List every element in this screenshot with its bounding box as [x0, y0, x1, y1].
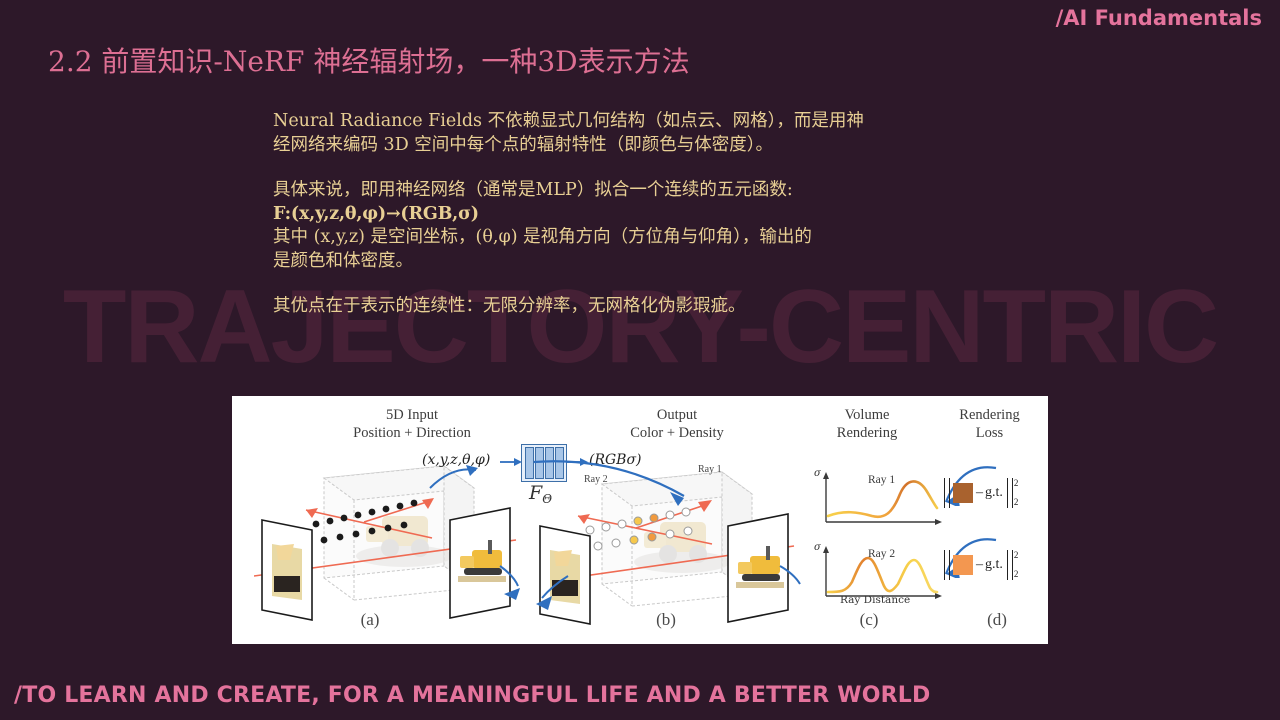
rendered-color-swatch-bottom: [953, 555, 973, 575]
norm-superscript-top: 2: [1014, 478, 1019, 489]
paragraph-2: 具体来说，即用神经网络（通常是MLP）拟合一个连续的五元函数: F:(x,y,z…: [273, 179, 1013, 273]
norm-subscript-bottom: 2: [1014, 569, 1019, 580]
nerf-pipeline-figure: 5D Input Position + Direction Output Col…: [232, 396, 1048, 644]
paragraph-1-line-2: 经网络来编码 3D 空间中每个点的辐射特性（即颜色与体密度）。: [273, 134, 1013, 158]
norm-bar-right-top: [1007, 478, 1013, 508]
panel-label-b: (b): [646, 610, 686, 630]
slide-body: Neural Radiance Fields 不依赖显式几何结构（如点云、网格）…: [273, 110, 1013, 319]
paragraph-1: Neural Radiance Fields 不依赖显式几何结构（如点云、网格）…: [273, 110, 1013, 157]
panel-a-illustration: [254, 448, 524, 623]
norm-superscript-bottom: 2: [1014, 550, 1019, 561]
figure-heading-output-line1: Output: [572, 406, 782, 424]
figure-heading-loss-line1: Rendering: [932, 406, 1047, 424]
figure-heading-volume-rendering: Volume Rendering: [802, 406, 932, 442]
plot-ray1-title: Ray 1: [868, 474, 895, 486]
plot-ray2-title: Ray 2: [868, 548, 895, 560]
panel-label-d: (d): [977, 610, 1017, 630]
loss-expression-bottom: – g.t. 2 2: [944, 550, 1018, 580]
loss-expression-top: – g.t. 2 2: [944, 478, 1018, 508]
ray-tag-ray1: Ray 1: [698, 464, 722, 475]
footer-tagline: /TO LEARN AND CREATE, FOR A MEANINGFUL L…: [14, 683, 930, 708]
ground-truth-label-top: g.t.: [985, 485, 1003, 501]
minus-sign-top: –: [976, 485, 983, 501]
norm-exponent-top: 2 2: [1014, 478, 1019, 508]
input-equation: (x,y,z,θ,φ): [422, 452, 490, 468]
figure-heading-output-line2: Color + Density: [572, 424, 782, 442]
panel-label-a: (a): [350, 610, 390, 630]
norm-bar-right-bottom: [1007, 550, 1013, 580]
plot-ray2-xaxis-label: Ray Distance: [840, 594, 910, 606]
plot-ray2-yaxis-label: σ: [814, 542, 821, 553]
paragraph-3-line-1: 其优点在于表示的连续性：无限分辨率，无网格化伪影瑕疵。: [273, 295, 1013, 319]
norm-subscript-top: 2: [1014, 497, 1019, 508]
rendered-color-swatch-top: [953, 483, 973, 503]
paragraph-2-line-3: 其中 (x,y,z) 是空间坐标，(θ,φ) 是视角方向（方位角与仰角），输出的: [273, 226, 1013, 250]
paragraph-2-line-4: 是颜色和体密度。: [273, 250, 1013, 274]
plot-ray1-yaxis-label: σ: [814, 468, 821, 479]
panel-b-illustration: [532, 458, 802, 626]
figure-heading-5d-input-line2: Position + Direction: [302, 424, 522, 442]
nerf-formula: F:(x,y,z,θ,φ)→(RGB,σ): [273, 203, 1013, 227]
ray-tag-ray2: Ray 2: [584, 474, 608, 485]
figure-heading-5d-input: 5D Input Position + Direction: [302, 406, 522, 442]
norm-exponent-bottom: 2 2: [1014, 550, 1019, 580]
figure-heading-output: Output Color + Density: [572, 406, 782, 442]
figure-heading-loss-line2: Loss: [932, 424, 1047, 442]
figure-heading-volume-line1: Volume: [802, 406, 932, 424]
paragraph-1-line-1: Neural Radiance Fields 不依赖显式几何结构（如点云、网格）…: [273, 110, 1013, 134]
page-title: 2.2 前置知识-NeRF 神经辐射场，一种3D表示方法: [48, 40, 690, 80]
paragraph-3: 其优点在于表示的连续性：无限分辨率，无网格化伪影瑕疵。: [273, 295, 1013, 319]
norm-bar-left-bottom: [944, 550, 950, 580]
input-arrow-icon: [500, 456, 522, 468]
panel-label-c: (c): [849, 610, 889, 630]
brand-label: /AI Fundamentals: [1056, 6, 1262, 30]
norm-bar-left-top: [944, 478, 950, 508]
paragraph-2-line-1: 具体来说，即用神经网络（通常是MLP）拟合一个连续的五元函数:: [273, 179, 1013, 203]
minus-sign-bottom: –: [976, 557, 983, 573]
figure-heading-5d-input-line1: 5D Input: [302, 406, 522, 424]
ground-truth-label-bottom: g.t.: [985, 557, 1003, 573]
figure-heading-volume-line2: Rendering: [802, 424, 932, 442]
figure-heading-rendering-loss: Rendering Loss: [932, 406, 1047, 442]
